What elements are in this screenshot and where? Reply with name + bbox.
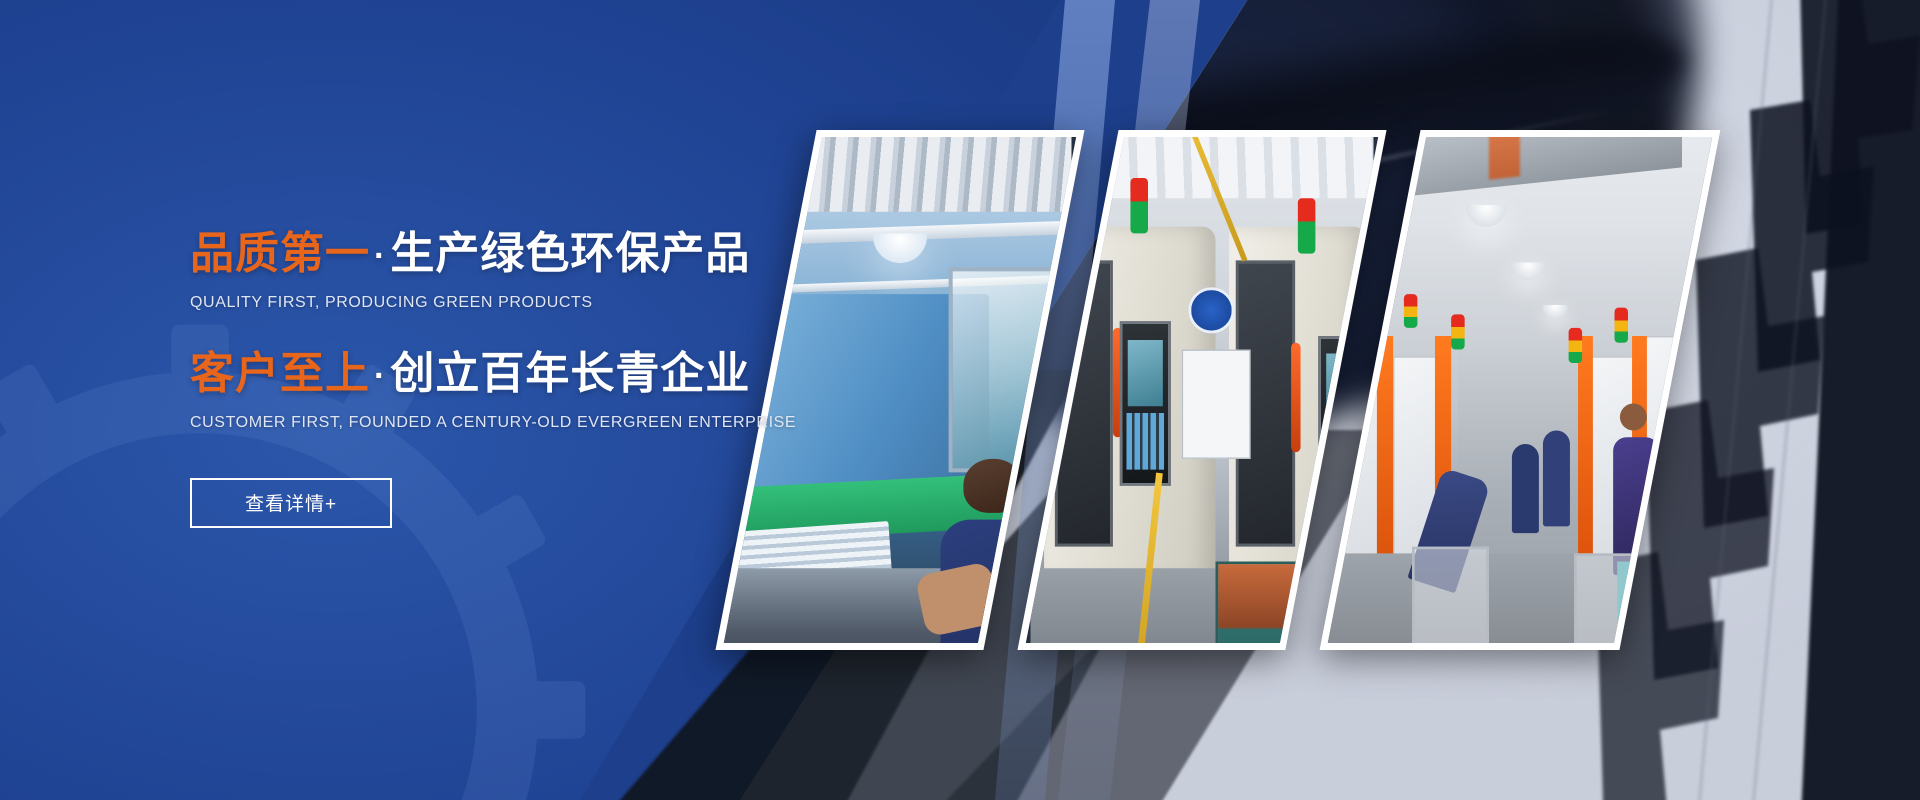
banner-copy: 品质第一·生产绿色环保产品 QUALITY FIRST, PRODUCING G… (190, 228, 870, 528)
photo-workshop-corridor: factory corridor with workers operating … (1319, 130, 1720, 650)
subtitle-1: QUALITY FIRST, PRODUCING GREEN PRODUCTS (190, 294, 870, 312)
headline-1-accent: 品质第一 (190, 229, 370, 278)
view-details-button[interactable]: 查看详情+ (190, 478, 392, 528)
subtitle-2: CUSTOMER FIRST, FOUNDED A CENTURY-OLD EV… (190, 414, 870, 432)
photo-cnc-machines: row of CNC vertical machining centres in… (1017, 130, 1386, 650)
headline-secondary: 客户至上·创立百年长青企业 (190, 348, 870, 400)
headline-2-accent: 客户至上 (190, 349, 370, 398)
headline-1-main: 生产绿色环保产品 (390, 229, 750, 278)
hero-banner: automated assembly line with worker insp… (0, 0, 1920, 800)
headline-1-separator: · (370, 237, 390, 275)
headline-2-separator: · (370, 357, 390, 395)
headline-2-main: 创立百年长青企业 (390, 349, 750, 398)
headline-primary: 品质第一·生产绿色环保产品 (190, 228, 870, 280)
photo-strip: automated assembly line with worker insp… (800, 0, 1920, 800)
